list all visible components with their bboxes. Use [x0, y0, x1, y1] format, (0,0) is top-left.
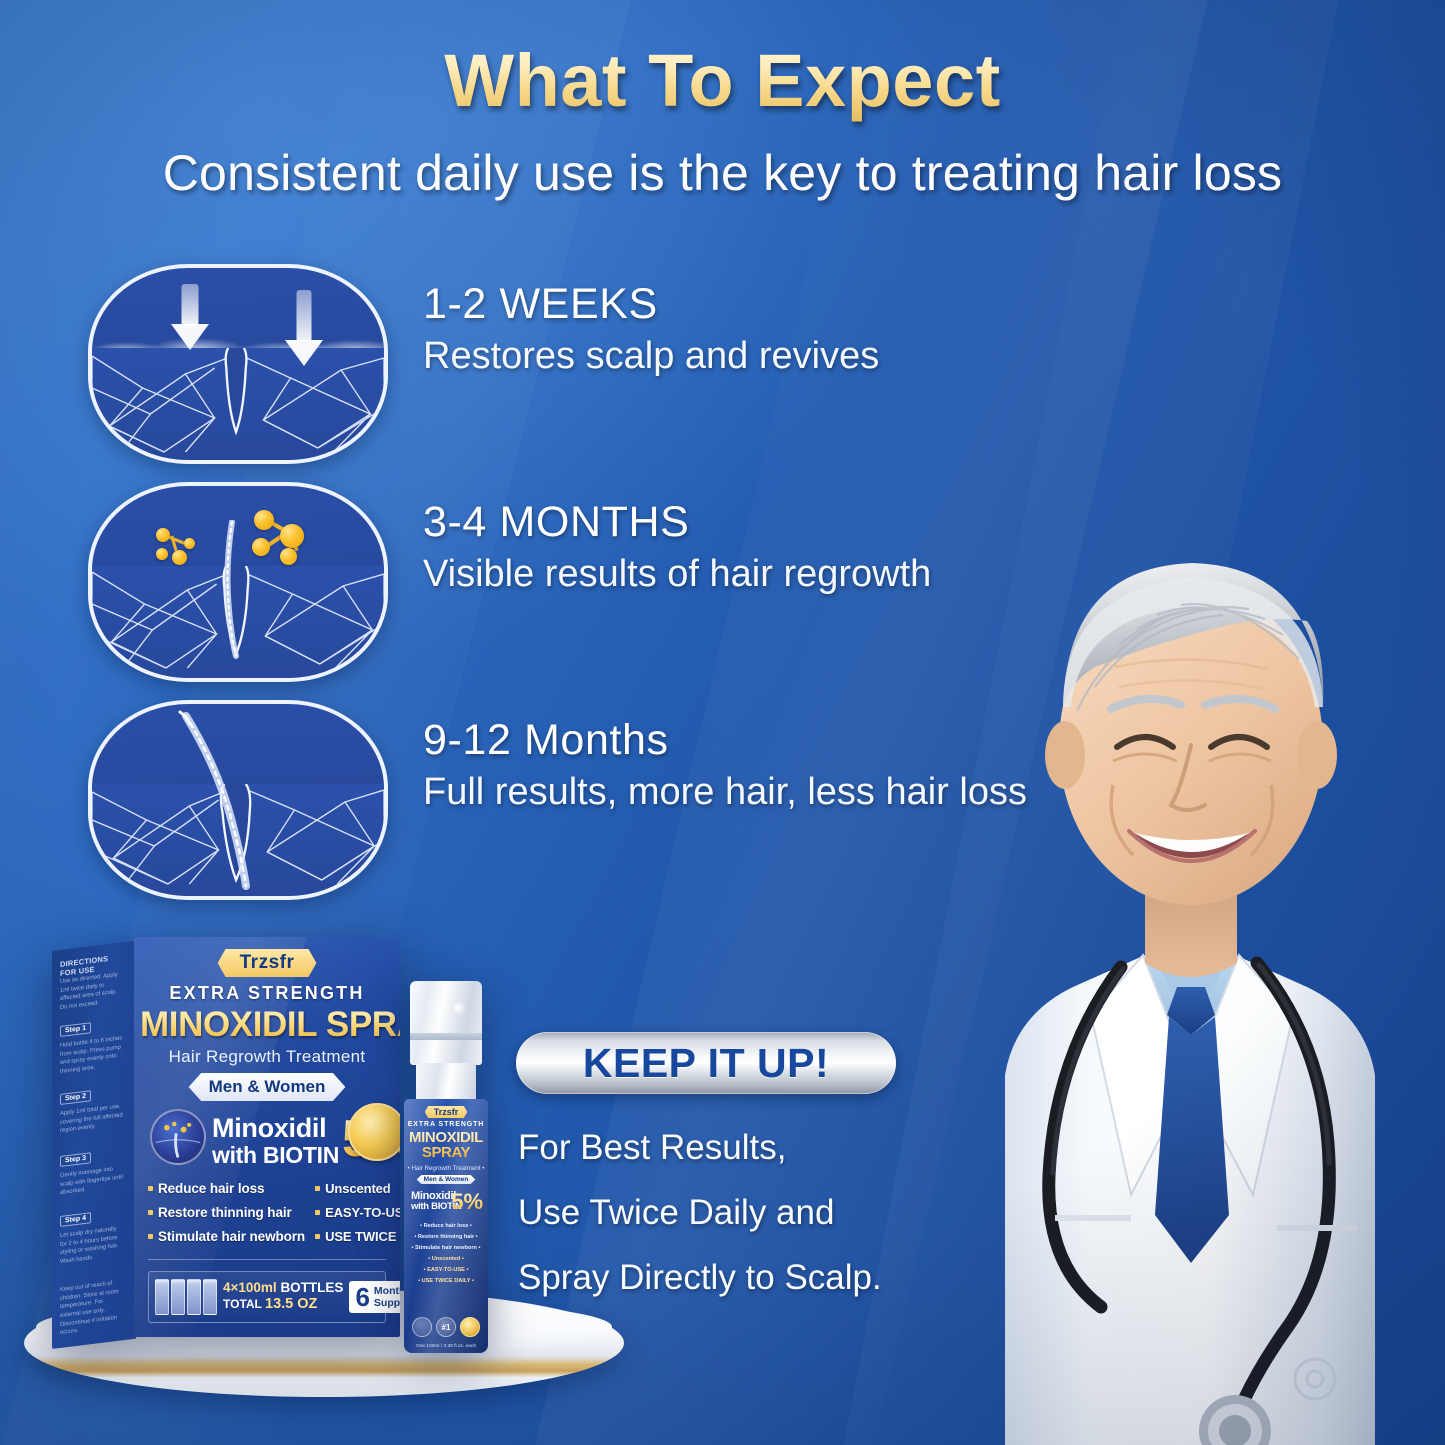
- benefits-column-left: Reduce hair loss Restore thinning hair S…: [148, 1181, 305, 1253]
- hair-strand-icon: [210, 520, 252, 660]
- direction-step-label: Step 2: [60, 1090, 91, 1105]
- bottle-benefit-item: • USE TWICE DAILY •: [404, 1276, 488, 1287]
- grown-hair-icon: [170, 710, 280, 892]
- skin-layer: [92, 348, 384, 460]
- page-title: What To Expect: [0, 38, 1445, 123]
- follicle-badge-art: [152, 1111, 204, 1163]
- box-benefits: Reduce hair loss Restore thinning hair S…: [148, 1181, 392, 1253]
- quantity-line: 4×100ml BOTTLES: [223, 1280, 343, 1296]
- gold-seal-icon: [348, 1103, 400, 1161]
- bottle-strength-percent: 5%: [451, 1189, 483, 1215]
- mini-bottles-icon: [155, 1279, 217, 1315]
- mini-bottle-icon: [155, 1279, 169, 1315]
- molecule-icon: [250, 508, 310, 566]
- scalp-absorption-icon: [88, 264, 388, 464]
- benefit-item: Stimulate hair newborn: [148, 1229, 305, 1244]
- rank-badge: #1: [436, 1317, 456, 1337]
- bottle-benefit-item: • Reduce hair loss •: [404, 1221, 488, 1232]
- mini-bottle-icon: [171, 1279, 185, 1315]
- direction-step-label: Step 4: [60, 1212, 91, 1227]
- total-label: TOTAL: [223, 1297, 262, 1311]
- timeline-step-text: 9-12 Months Full results, more hair, les…: [423, 716, 1083, 814]
- bottle-tagline: • Hair Regrowth Treatment •: [408, 1165, 485, 1172]
- nozzle-dot-icon: [452, 1003, 466, 1017]
- supply-line-2: Supply: [374, 1297, 400, 1309]
- box-audience-badge: Men & Women: [189, 1073, 346, 1101]
- scalp-hair-growth-icon: [88, 700, 388, 900]
- page-subtitle: Consistent daily use is the key to treat…: [0, 144, 1445, 202]
- timeline-step: 3-4 MONTHS Visible results of hair regro…: [78, 476, 1088, 694]
- bottle-benefit-item: • Restore thinning hair •: [404, 1232, 488, 1243]
- box-active-ingredient: Minoxidil with BIOTIN: [212, 1115, 339, 1169]
- usage-line: Spray Directly to Scalp.: [518, 1258, 1078, 1298]
- timeline-step-title: 1-2 WEEKS: [423, 280, 1083, 329]
- active-ingredient-secondary: with BIOTIN: [212, 1142, 339, 1169]
- supply-line-1: Month: [374, 1285, 400, 1297]
- supply-badge: 6 Month Supply: [349, 1281, 400, 1313]
- bottle-strength-label: EXTRA STRENGTH: [408, 1121, 485, 1128]
- timeline-step-description: Restores scalp and revives: [423, 335, 1083, 378]
- usage-line: Use Twice Daily and: [518, 1193, 1078, 1233]
- gold-seal-icon: [460, 1317, 480, 1337]
- box-side-panel: DIRECTIONS FOR USE Use as directed. Appl…: [52, 941, 136, 1349]
- active-ingredient-name: Minoxidil: [212, 1115, 339, 1142]
- brand-name: Trzsfr: [218, 949, 317, 977]
- bottle-brand-name: Trzsfr: [425, 1106, 468, 1118]
- scalp-molecules-icon: [88, 482, 388, 682]
- molecule-icon: [154, 526, 202, 566]
- benefit-item: Unscented: [315, 1181, 400, 1196]
- total-value: 13.5 OZ: [265, 1296, 317, 1312]
- bottle-benefit-item: • Unscented •: [404, 1254, 488, 1265]
- bottle-volume-text: One 100ml / 3.38 fl.oz. each: [404, 1344, 488, 1349]
- box-front-panel: Trzsfr EXTRA STRENGTH MINOXIDIL SPRAY Ha…: [134, 937, 400, 1337]
- follicle-illustration-badge: [150, 1109, 206, 1165]
- poster-canvas: What To Expect Consistent daily use is t…: [0, 0, 1445, 1445]
- bottle-benefit-item: • EASY-TO-USE •: [404, 1265, 488, 1276]
- mini-bottle-icon: [203, 1279, 217, 1315]
- timeline-list: 1-2 WEEKS Restores scalp and revives: [78, 258, 1088, 912]
- quantity-unit: BOTTLES: [280, 1280, 343, 1295]
- direction-step-text: Let scalp dry naturally for 2 to 4 hours…: [60, 1224, 124, 1267]
- mini-bottle-icon: [187, 1279, 201, 1315]
- timeline-step-title: 9-12 Months: [423, 716, 1083, 765]
- bottle-benefits: • Reduce hair loss • • Restore thinning …: [404, 1221, 488, 1286]
- spray-bottle: Trzsfr EXTRA STRENGTH MINOXIDIL SPRAY • …: [398, 981, 494, 1353]
- box-product-name: MINOXIDIL SPRAY: [140, 1005, 400, 1045]
- quantity-value: 4×100ml: [223, 1280, 277, 1295]
- direction-step-text: Gently massage into scalp with fingertip…: [60, 1164, 124, 1198]
- cap-ring: [410, 1033, 482, 1040]
- benefit-item: Restore thinning hair: [148, 1205, 305, 1220]
- bottle-audience-badge: Men & Women: [417, 1175, 476, 1184]
- box-tagline: Hair Regrowth Treatment: [169, 1047, 366, 1067]
- follicle-cavity: [92, 348, 384, 460]
- bottle-cap: [410, 981, 482, 1065]
- timeline-step-text: 3-4 MONTHS Visible results of hair regro…: [423, 498, 1083, 596]
- bottle-name-line-2: SPRAY: [404, 1146, 488, 1161]
- direction-step-label: Step 1: [60, 1022, 91, 1037]
- timeline-step: 9-12 Months Full results, more hair, les…: [78, 694, 1088, 912]
- quantity-text-block: 4×100ml BOTTLES TOTAL 13.5 OZ: [223, 1280, 343, 1314]
- directions-intro-text: Use as directed. Apply 1ml twice daily t…: [60, 970, 124, 1013]
- bottle-neck: [416, 1063, 476, 1103]
- total-line: TOTAL 13.5 OZ: [223, 1296, 343, 1314]
- usage-line: For Best Results,: [518, 1128, 1078, 1168]
- bottle-benefit-item: • Stimulate hair newborn •: [404, 1243, 488, 1254]
- supply-number: 6: [355, 1284, 369, 1310]
- direction-step-text: Apply 1ml total per use, covering the fu…: [60, 1102, 124, 1136]
- keep-it-up-badge: KEEP IT UP!: [516, 1032, 896, 1094]
- benefits-column-right: Unscented EASY-TO-USE USE TWICE DAILY: [315, 1181, 400, 1253]
- supply-text: Month Supply: [374, 1285, 400, 1310]
- box-strength-label: EXTRA STRENGTH: [169, 983, 364, 1004]
- certification-seal-icon: [412, 1317, 432, 1337]
- timeline-step: 1-2 WEEKS Restores scalp and revives: [78, 258, 1088, 476]
- bottle-body-label: Trzsfr EXTRA STRENGTH MINOXIDIL SPRAY • …: [404, 1099, 488, 1353]
- timeline-step-description: Full results, more hair, less hair loss: [423, 771, 1083, 814]
- product-box: DIRECTIONS FOR USE Use as directed. Appl…: [52, 937, 400, 1349]
- keep-it-up-label: KEEP IT UP!: [583, 1040, 829, 1087]
- box-quantity-strip: 4×100ml BOTTLES TOTAL 13.5 OZ 6 Month Su…: [148, 1271, 386, 1323]
- bottle-product-name: MINOXIDIL SPRAY: [404, 1131, 488, 1160]
- timeline-step-title: 3-4 MONTHS: [423, 498, 1083, 547]
- direction-step-label: Step 3: [60, 1152, 91, 1167]
- box-divider: [148, 1259, 386, 1260]
- bottle-seal-row: #1: [404, 1317, 488, 1337]
- usage-instructions: For Best Results, Use Twice Daily and Sp…: [518, 1128, 1078, 1323]
- direction-step-text: Hold bottle 4 to 6 inches from scalp. Pr…: [60, 1034, 124, 1077]
- timeline-step-text: 1-2 WEEKS Restores scalp and revives: [423, 280, 1083, 378]
- benefit-item: EASY-TO-USE: [315, 1205, 400, 1220]
- benefit-item: USE TWICE DAILY: [315, 1229, 400, 1244]
- timeline-step-description: Visible results of hair regrowth: [423, 553, 1083, 596]
- benefit-item: Reduce hair loss: [148, 1181, 305, 1196]
- directions-footer-text: Keep out of reach of children. Store at …: [60, 1278, 124, 1338]
